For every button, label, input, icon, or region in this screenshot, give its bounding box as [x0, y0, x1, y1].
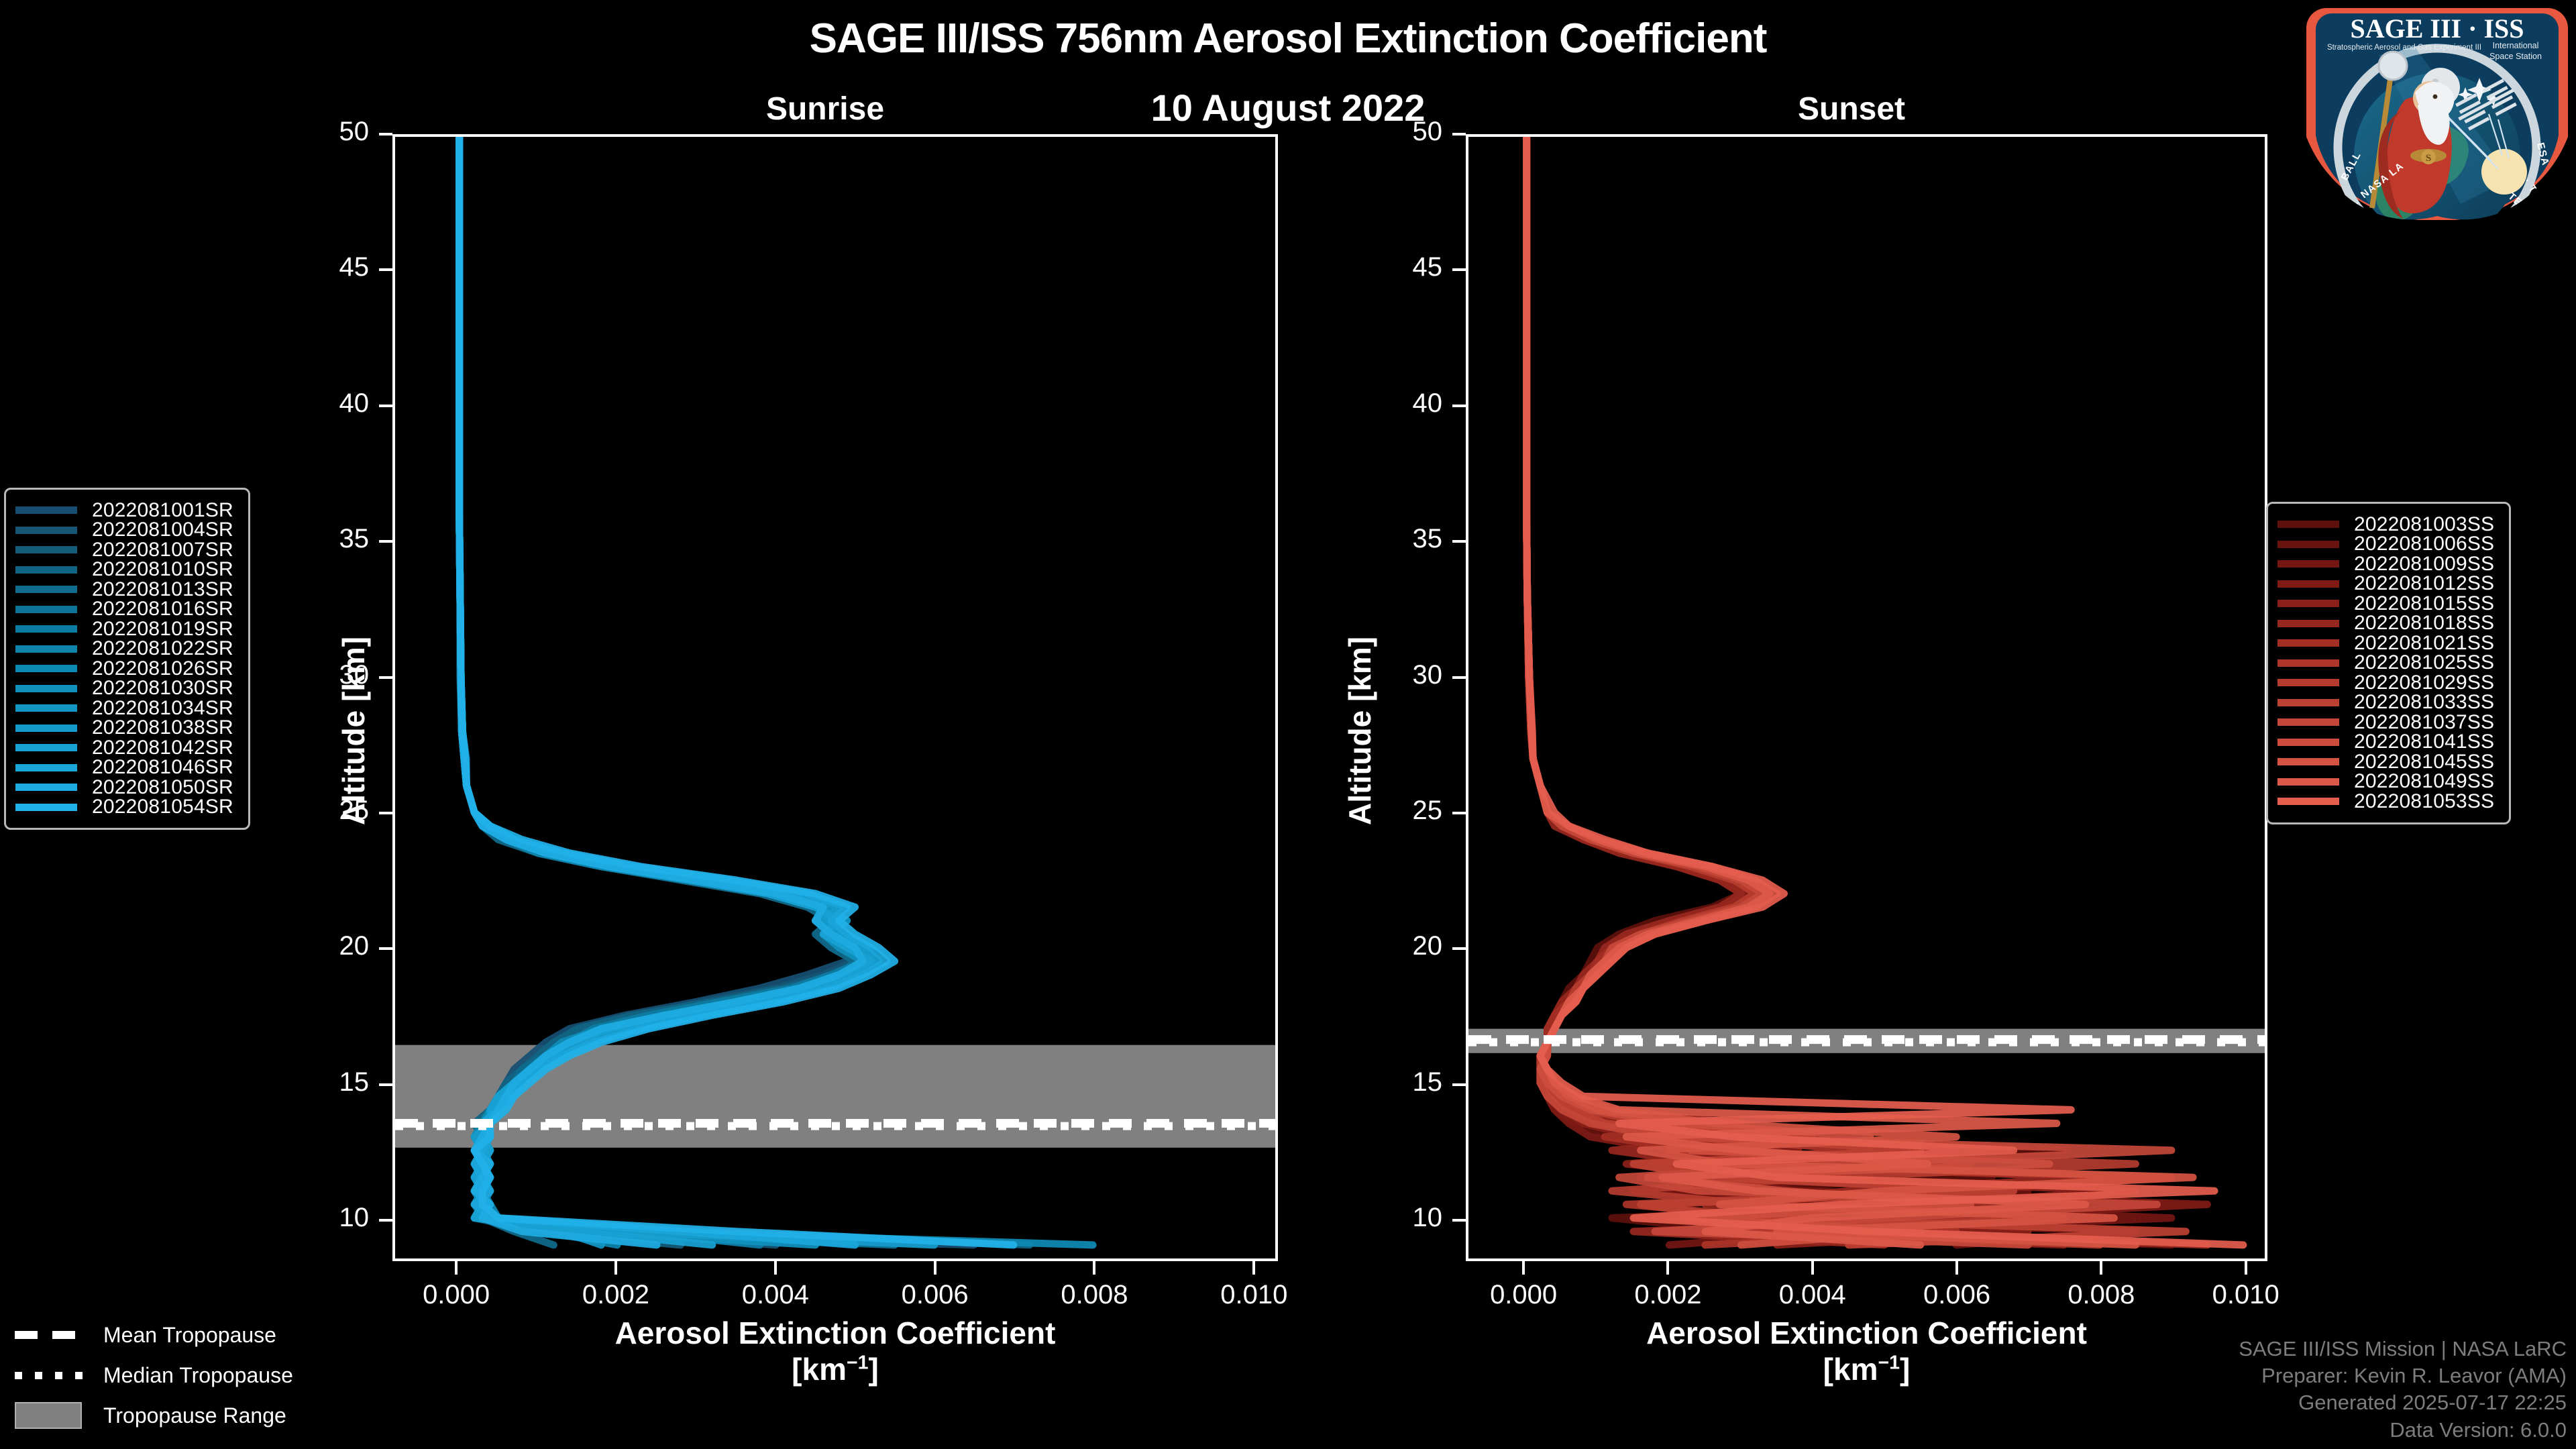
- credits-line-2: Generated 2025-07-17 22:25: [2239, 1389, 2567, 1416]
- sunrise-x-tick-mark: [1093, 1261, 1095, 1275]
- sunset-x-tick-label: 0.008: [2034, 1280, 2168, 1310]
- sunrise-y-tick-mark: [379, 1219, 392, 1222]
- sunrise-plot-frame: [392, 134, 1278, 1261]
- sunrise-legend-color-swatch: [15, 566, 77, 574]
- sunrise-x-tick-label: 0.008: [1027, 1280, 1161, 1310]
- sunset-y-tick-label: 20: [1355, 931, 1442, 961]
- sunset-plot-frame: [1466, 134, 2267, 1261]
- sunset-profile-line: [1527, 137, 2086, 1245]
- sunset-y-tick-label: 40: [1355, 388, 1442, 419]
- sunset-profile-line: [1527, 137, 2136, 1245]
- sunrise-y-tick-label: 20: [282, 931, 369, 961]
- sunrise-x-tick-mark: [1252, 1261, 1255, 1275]
- sunset-legend-row[interactable]: 2022081018SS: [2277, 614, 2494, 634]
- sunset-legend-row[interactable]: 2022081021SS: [2277, 633, 2494, 653]
- sunset-legend-label: 2022081053SS: [2354, 790, 2494, 813]
- sunrise-legend-row[interactable]: 2022081019SR: [15, 619, 233, 639]
- sunrise-series-legend[interactable]: 2022081001SR2022081004SR2022081007SR2022…: [4, 488, 250, 830]
- median-tropopause-dot-icon: [15, 1366, 89, 1384]
- sunset-legend-color-swatch: [2277, 739, 2339, 746]
- sunrise-x-axis-label-line1: Aerosol Extinction Coefficient: [392, 1315, 1278, 1351]
- sunrise-x-tick-label: 0.006: [868, 1280, 1002, 1310]
- sunrise-legend-color-swatch: [15, 606, 77, 613]
- sunset-y-tick-label: 35: [1355, 524, 1442, 554]
- sunrise-x-axis-label: Aerosol Extinction Coefficient [km−1]: [392, 1315, 1278, 1388]
- sunset-legend-row[interactable]: 2022081012SS: [2277, 574, 2494, 594]
- sunset-profile-line: [1527, 137, 2171, 1245]
- sunset-profile-line: [1527, 137, 2186, 1245]
- sunrise-legend-color-swatch: [15, 506, 77, 514]
- sunset-y-tick-mark: [1452, 676, 1466, 679]
- sunset-legend-row[interactable]: 2022081045SS: [2277, 752, 2494, 772]
- sunset-legend-row[interactable]: 2022081033SS: [2277, 693, 2494, 713]
- sunrise-x-tick-label: 0.000: [389, 1280, 523, 1310]
- sunrise-x-tick-mark: [774, 1261, 777, 1275]
- sunset-legend-row[interactable]: 2022081037SS: [2277, 712, 2494, 733]
- sunrise-x-tick-label: 0.004: [708, 1280, 843, 1310]
- sunrise-legend-row[interactable]: 2022081007SR: [15, 540, 233, 560]
- tropopause-legend: Mean Tropopause Median Tropopause Tropop…: [15, 1315, 293, 1436]
- sunset-legend-color-swatch: [2277, 679, 2339, 686]
- tropopause-legend-range-row: Tropopause Range: [15, 1395, 293, 1436]
- sunset-legend-color-swatch: [2277, 699, 2339, 706]
- sunset-x-tick-mark: [2245, 1261, 2247, 1275]
- logo-subtitle-right-line1: International: [2493, 41, 2539, 50]
- sunset-legend-row[interactable]: 2022081049SS: [2277, 772, 2494, 792]
- sunset-y-tick-mark: [1452, 947, 1466, 950]
- sunset-profile-line: [1527, 137, 2171, 1245]
- page-subtitle-date: 10 August 2022: [0, 86, 2576, 129]
- sunrise-legend-color-swatch: [15, 625, 77, 633]
- sunset-legend-row[interactable]: 2022081053SS: [2277, 792, 2494, 812]
- sunset-x-tick-mark: [1522, 1261, 1525, 1275]
- sunrise-legend-color-swatch: [15, 665, 77, 672]
- sunset-x-tick-label: 0.010: [2179, 1280, 2313, 1310]
- sunrise-y-tick-label: 40: [282, 388, 369, 419]
- sage-iii-iss-mission-logo-icon: S BALL · NASA LA TER · TAS-I · ESA SAGE …: [2306, 5, 2568, 220]
- sunrise-y-tick-mark: [379, 133, 392, 136]
- sunset-legend-color-swatch: [2277, 798, 2339, 805]
- sunset-x-tick-label: 0.002: [1601, 1280, 1735, 1310]
- sunset-legend-color-swatch: [2277, 600, 2339, 607]
- sunset-profile-line: [1527, 137, 2194, 1245]
- sunset-legend-row[interactable]: 2022081025SS: [2277, 653, 2494, 674]
- sunset-legend-row[interactable]: 2022081041SS: [2277, 733, 2494, 753]
- svg-text:· TAS-I ·: · TAS-I ·: [2522, 176, 2557, 220]
- sunrise-legend-color-swatch: [15, 724, 77, 732]
- panel-title-sunset: Sunset: [1630, 91, 2073, 127]
- sunset-plot-canvas: [1468, 137, 2265, 1258]
- sunset-y-tick-mark: [1452, 1083, 1466, 1086]
- sunrise-legend-row[interactable]: 2022081034SR: [15, 698, 233, 718]
- sunset-legend-row[interactable]: 2022081003SS: [2277, 515, 2494, 535]
- mean-tropopause-dash-icon: [15, 1326, 89, 1344]
- credits-line-0: SAGE III/ISS Mission | NASA LaRC: [2239, 1336, 2567, 1362]
- sunset-legend-row[interactable]: 2022081029SS: [2277, 673, 2494, 693]
- sunrise-legend-row[interactable]: 2022081038SR: [15, 718, 233, 739]
- credits-block: SAGE III/ISS Mission | NASA LaRCPreparer…: [2239, 1336, 2567, 1444]
- sunset-y-tick-label: 50: [1355, 117, 1442, 147]
- sunrise-x-tick-label: 0.010: [1187, 1280, 1321, 1310]
- sunrise-legend-label: 2022081054SR: [92, 796, 233, 818]
- credits-line-1: Preparer: Kevin R. Leavor (AMA): [2239, 1362, 2567, 1389]
- sunset-x-axis-label-unit: [km−1]: [1466, 1351, 2267, 1387]
- sunset-legend-color-swatch: [2277, 659, 2339, 667]
- sunset-legend-row[interactable]: 2022081006SS: [2277, 535, 2494, 555]
- sunrise-legend-row[interactable]: 2022081042SR: [15, 738, 233, 758]
- sunrise-legend-row[interactable]: 2022081050SR: [15, 777, 233, 798]
- sunrise-y-tick-label: 45: [282, 252, 369, 282]
- tropopause-legend-median-row: Median Tropopause: [15, 1355, 293, 1395]
- sunrise-legend-color-swatch: [15, 784, 77, 791]
- sunrise-x-tick-label: 0.002: [549, 1280, 683, 1310]
- sunrise-y-tick-mark: [379, 1083, 392, 1086]
- sunrise-plot-canvas: [395, 137, 1275, 1258]
- sunrise-y-tick-mark: [379, 812, 392, 814]
- sunset-y-tick-mark: [1452, 540, 1466, 543]
- sunset-legend-color-swatch: [2277, 580, 2339, 588]
- sunset-profile-line: [1527, 137, 2171, 1245]
- sunrise-y-tick-label: 25: [282, 796, 369, 826]
- sunset-profile-line: [1527, 137, 2208, 1245]
- sunrise-legend-color-swatch: [15, 645, 77, 653]
- logo-subtitle-right-line2: Space Station: [2489, 52, 2542, 61]
- sunrise-x-tick-mark: [934, 1261, 936, 1275]
- sunrise-legend-row[interactable]: 2022081010SR: [15, 560, 233, 580]
- tropopause-range-label: Tropopause Range: [103, 1403, 286, 1428]
- sunrise-legend-color-swatch: [15, 744, 77, 751]
- sunrise-y-tick-mark: [379, 540, 392, 543]
- sunset-y-tick-mark: [1452, 1219, 1466, 1222]
- sunset-x-tick-mark: [1811, 1261, 1814, 1275]
- sunrise-y-tick-mark: [379, 947, 392, 950]
- sunset-profile-line: [1527, 137, 2136, 1245]
- sunrise-legend-row[interactable]: 2022081026SR: [15, 659, 233, 679]
- sunset-legend-color-swatch: [2277, 521, 2339, 528]
- sunset-x-axis-label: Aerosol Extinction Coefficient [km−1]: [1466, 1315, 2267, 1388]
- mean-tropopause-label: Mean Tropopause: [103, 1323, 276, 1348]
- sunset-legend-row[interactable]: 2022081015SS: [2277, 594, 2494, 614]
- sunset-legend-color-swatch: [2277, 639, 2339, 647]
- sunrise-y-tick-mark: [379, 676, 392, 679]
- sunset-profile-line: [1527, 137, 2136, 1245]
- sunrise-y-tick-label: 10: [282, 1203, 369, 1233]
- sunrise-legend-color-swatch: [15, 546, 77, 553]
- sunset-x-tick-label: 0.000: [1456, 1280, 1591, 1310]
- sunset-y-tick-label: 10: [1355, 1203, 1442, 1233]
- sunrise-plot-panel: [392, 134, 1278, 1261]
- median-tropopause-label: Median Tropopause: [103, 1363, 293, 1388]
- sunrise-x-tick-mark: [455, 1261, 458, 1275]
- sunrise-legend-row[interactable]: 2022081016SR: [15, 600, 233, 620]
- logo-title: SAGE III · ISS: [2350, 13, 2524, 44]
- sunrise-legend-row[interactable]: 2022081013SR: [15, 580, 233, 600]
- sunset-y-tick-mark: [1452, 405, 1466, 407]
- sunset-legend-color-swatch: [2277, 541, 2339, 548]
- sunset-x-tick-mark: [1666, 1261, 1669, 1275]
- sunset-x-axis-label-line1: Aerosol Extinction Coefficient: [1466, 1315, 2267, 1351]
- tropopause-legend-mean-row: Mean Tropopause: [15, 1315, 293, 1355]
- sunset-legend-color-swatch: [2277, 718, 2339, 726]
- sunset-x-tick-label: 0.006: [1890, 1280, 2024, 1310]
- sunset-x-tick-label: 0.004: [1746, 1280, 1880, 1310]
- credits-line-3: Data Version: 6.0.0: [2239, 1417, 2567, 1444]
- sunset-profile-line: [1527, 137, 2208, 1245]
- sunrise-legend-color-swatch: [15, 527, 77, 534]
- sunset-profile-line: [1527, 137, 2171, 1245]
- svg-text:S: S: [2426, 153, 2431, 164]
- sunset-legend-color-swatch: [2277, 620, 2339, 627]
- sunrise-y-tick-label: 30: [282, 660, 369, 690]
- sunset-legend-color-swatch: [2277, 778, 2339, 786]
- logo-subtitle-left: Stratospheric Aerosol and Gas Experiment…: [2327, 44, 2481, 52]
- panel-title-sunrise: Sunrise: [604, 91, 1046, 127]
- page-title: SAGE III/ISS 756nm Aerosol Extinction Co…: [0, 15, 2576, 62]
- sunrise-y-tick-mark: [379, 405, 392, 407]
- sunset-profile-line: [1527, 137, 2050, 1245]
- sunrise-y-tick-label: 35: [282, 524, 369, 554]
- sunrise-x-tick-mark: [614, 1261, 617, 1275]
- tropopause-range-swatch-icon: [15, 1407, 89, 1424]
- sunset-profile-line: [1527, 137, 2100, 1245]
- sunset-y-tick-mark: [1452, 268, 1466, 271]
- sunset-legend-row[interactable]: 2022081009SS: [2277, 554, 2494, 574]
- sunrise-y-tick-label: 15: [282, 1067, 369, 1097]
- sunset-legend-color-swatch: [2277, 758, 2339, 765]
- sunset-y-tick-label: 45: [1355, 252, 1442, 282]
- sunrise-legend-color-swatch: [15, 764, 77, 771]
- sunrise-legend-color-swatch: [15, 704, 77, 712]
- sunrise-legend-color-swatch: [15, 586, 77, 593]
- sunset-y-tick-mark: [1452, 812, 1466, 814]
- sunrise-y-tick-mark: [379, 268, 392, 271]
- sunset-x-tick-mark: [1955, 1261, 1958, 1275]
- sunrise-legend-row[interactable]: 2022081054SR: [15, 798, 233, 818]
- sunrise-legend-row[interactable]: 2022081030SR: [15, 679, 233, 699]
- sunrise-x-axis-label-unit: [km−1]: [392, 1351, 1278, 1387]
- sunrise-legend-row[interactable]: 2022081001SR: [15, 500, 233, 521]
- sunset-y-tick-label: 25: [1355, 796, 1442, 826]
- sunset-x-tick-mark: [2100, 1261, 2102, 1275]
- sunrise-y-tick-label: 50: [282, 117, 369, 147]
- sunset-y-tick-mark: [1452, 133, 1466, 136]
- sunrise-legend-row[interactable]: 2022081004SR: [15, 521, 233, 541]
- sunset-y-tick-label: 30: [1355, 660, 1442, 690]
- sunrise-legend-color-swatch: [15, 804, 77, 811]
- sunset-legend-color-swatch: [2277, 560, 2339, 568]
- sunrise-legend-row[interactable]: 2022081046SR: [15, 758, 233, 778]
- sunrise-legend-row[interactable]: 2022081022SR: [15, 639, 233, 659]
- sunset-y-tick-label: 15: [1355, 1067, 1442, 1097]
- sunset-series-legend[interactable]: 2022081003SS2022081006SS2022081009SS2022…: [2266, 502, 2511, 824]
- sunrise-legend-color-swatch: [15, 685, 77, 692]
- sunset-profile-line: [1527, 137, 2243, 1245]
- sunset-plot-panel: [1466, 134, 2267, 1261]
